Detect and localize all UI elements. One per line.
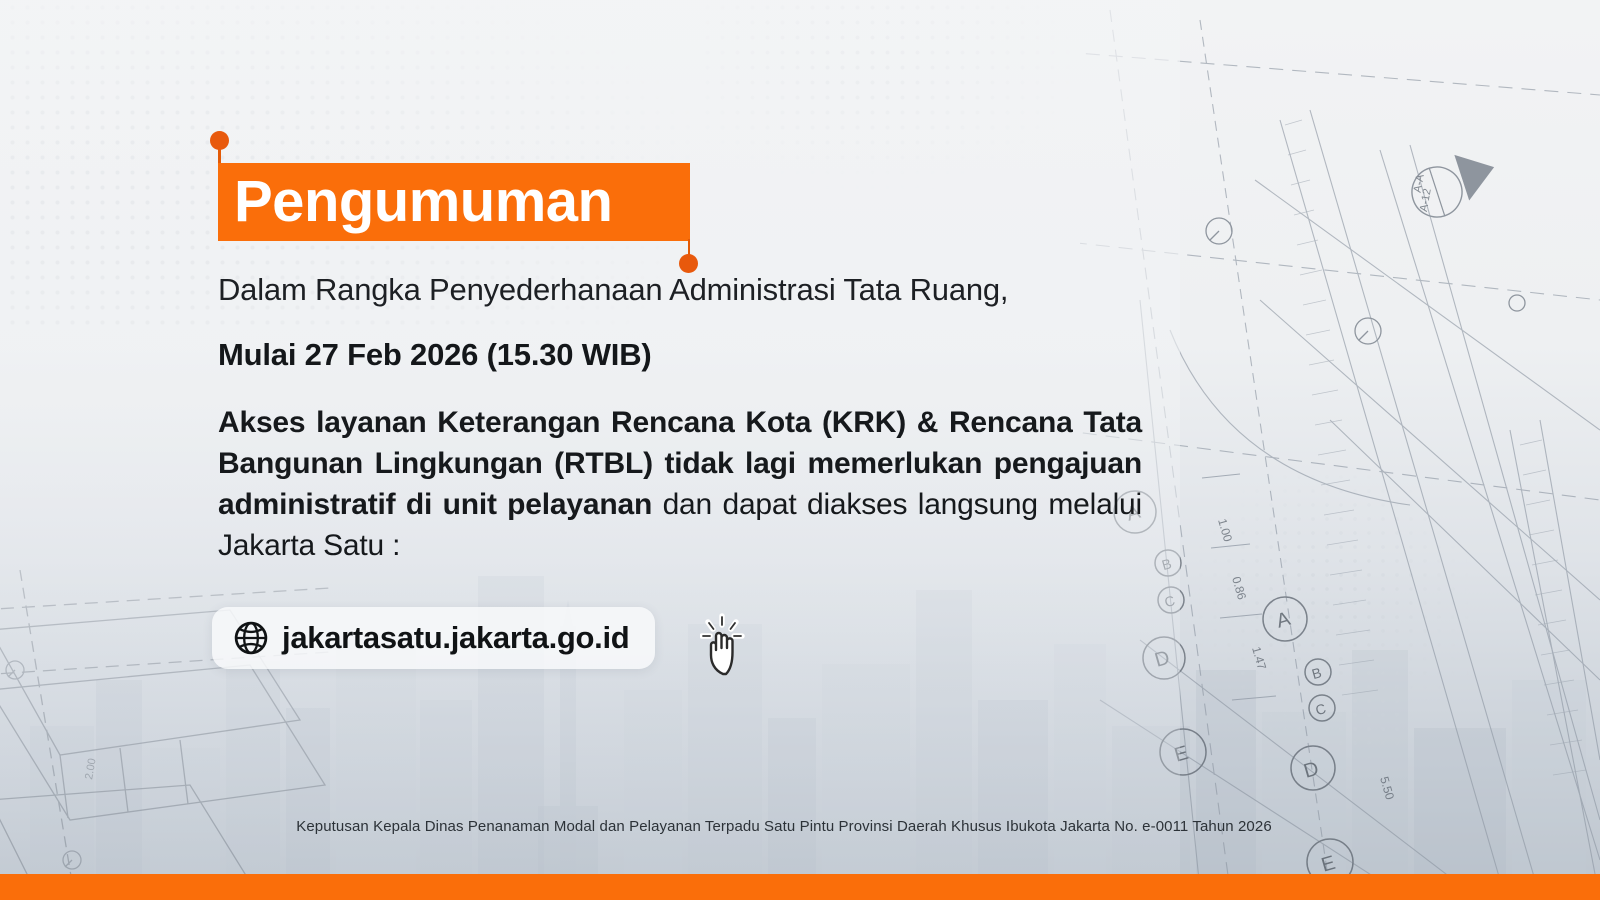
svg-text:D: D xyxy=(1301,758,1321,783)
effective-date-line: Mulai 27 Feb 2026 (15.30 WIB) xyxy=(218,337,652,373)
page-title: Pengumuman xyxy=(234,173,613,231)
svg-text:B: B xyxy=(1310,664,1323,682)
svg-text:0.86: 0.86 xyxy=(1229,575,1249,602)
announcement-content: Pengumuman Dalam Rangka Penyederhanaan A… xyxy=(0,0,1180,900)
pin-dot-top-left-icon xyxy=(210,131,229,150)
hand-pointer-click-cursor-icon xyxy=(700,612,762,678)
footnote-text: Keputusan Kepala Dinas Penanaman Modal d… xyxy=(0,818,1568,835)
svg-text:C: C xyxy=(1314,700,1328,718)
svg-text:1.47: 1.47 xyxy=(1249,645,1269,672)
pin-dot-bottom-right-icon xyxy=(679,254,698,273)
announcement-banner: A-A A-12 A B C D xyxy=(0,0,1600,900)
globe-icon xyxy=(234,621,268,655)
svg-text:5.50: 5.50 xyxy=(1377,775,1397,802)
section-marker: A-A A-12 xyxy=(1404,144,1504,223)
svg-text:1.00: 1.00 xyxy=(1215,517,1235,544)
bottom-accent-bar xyxy=(0,874,1600,900)
url-text: jakartasatu.jakarta.go.id xyxy=(282,620,629,656)
lead-line: Dalam Rangka Penyederhanaan Administrasi… xyxy=(218,272,1008,308)
svg-text:A-12: A-12 xyxy=(1418,188,1434,213)
body-paragraph: Akses layanan Keterangan Rencana Kota (K… xyxy=(218,402,1142,566)
title-box: Pengumuman xyxy=(218,163,690,241)
url-pill-button[interactable]: jakartasatu.jakarta.go.id xyxy=(212,607,655,669)
title-banner: Pengumuman xyxy=(218,163,690,241)
svg-text:A: A xyxy=(1274,608,1294,633)
svg-text:E: E xyxy=(1319,852,1338,877)
